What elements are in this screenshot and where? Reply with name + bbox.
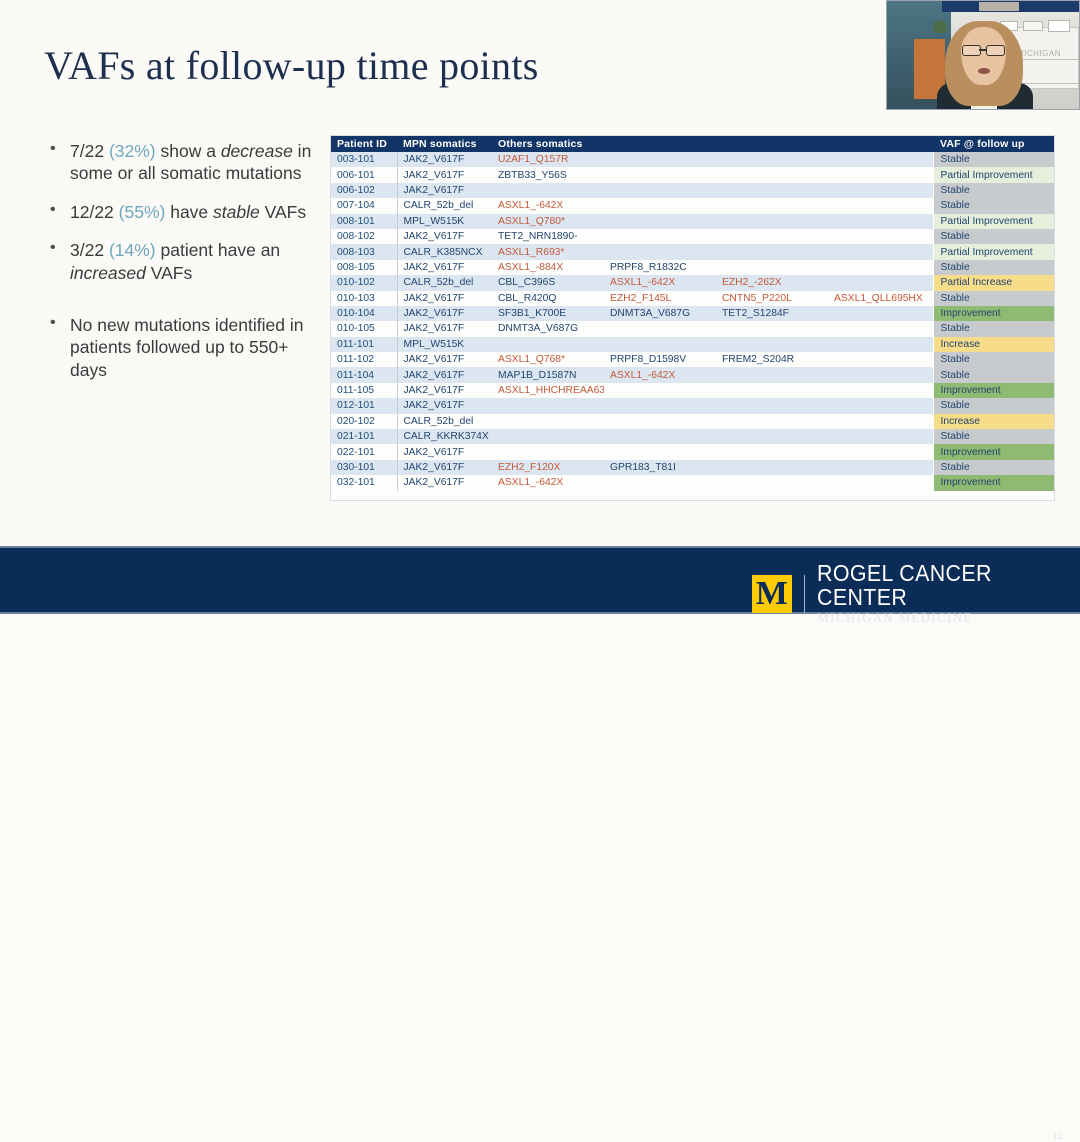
logo-secondary-text: MICHIGAN MEDICINE (817, 611, 1080, 626)
table-row: 008-101MPL_W515KASXL1_Q780*Partial Impro… (331, 214, 1054, 229)
cell-patient-id: 006-102 (331, 183, 397, 198)
table-row: 003-101JAK2_V617FU2AF1_Q157RStable (331, 152, 1054, 167)
webcam-glasses-bridge (979, 49, 986, 51)
table-filler-cell (331, 491, 397, 500)
table-row: 010-103JAK2_V617FCBL_R420QEZH2_F145LCNTN… (331, 291, 1054, 306)
cell-vaf-status: Partial Improvement (933, 167, 1054, 182)
cell-other-somatic (604, 183, 716, 198)
cell-mpn-somatic: JAK2_V617F (397, 183, 492, 198)
cell-other-somatic (716, 214, 828, 229)
cell-other-somatic: ASXL1_R693* (492, 244, 604, 259)
cell-other-somatic: CBL_R420Q (492, 291, 604, 306)
bullet-text-run: (32%) (109, 141, 156, 161)
rogel-cancer-center-logo: M ROGEL CANCER CENTER MICHIGAN MEDICINE (752, 561, 1080, 626)
cell-other-somatic (604, 214, 716, 229)
cell-vaf-status: Stable (933, 429, 1054, 444)
bullet-text-run: show a (156, 141, 221, 161)
cell-vaf-status: Improvement (933, 306, 1054, 321)
cell-other-somatic (492, 398, 604, 413)
cell-other-somatic (604, 229, 716, 244)
cell-mpn-somatic: JAK2_V617F (397, 367, 492, 382)
presentation-slide: VAFs at follow-up time points 7/22 (32%)… (0, 0, 1080, 610)
cell-mpn-somatic: JAK2_V617F (397, 152, 492, 167)
cell-other-somatic: FREM2_S204R (716, 352, 828, 367)
cell-other-somatic (828, 367, 933, 382)
table-row: 008-103CALR_K385NCXASXL1_R693*Partial Im… (331, 244, 1054, 259)
cell-other-somatic (828, 352, 933, 367)
bullet-item: 3/22 (14%) patient have an increased VAF… (44, 239, 324, 284)
cell-mpn-somatic: JAK2_V617F (397, 167, 492, 182)
cell-mpn-somatic: JAK2_V617F (397, 321, 492, 336)
cell-other-somatic: ASXL1_QLL695HX (828, 291, 933, 306)
cell-other-somatic (828, 275, 933, 290)
cell-other-somatic (604, 321, 716, 336)
cell-vaf-status: Increase (933, 337, 1054, 352)
cell-patient-id: 020-102 (331, 414, 397, 429)
cell-mpn-somatic: CALR_KKRK374X (397, 429, 492, 444)
cell-mpn-somatic: JAK2_V617F (397, 260, 492, 275)
cell-other-somatic (828, 260, 933, 275)
cell-other-somatic (828, 229, 933, 244)
cell-other-somatic (716, 229, 828, 244)
presenter-video-feed[interactable]: MICHIGAN (886, 0, 1080, 110)
cell-other-somatic: ASXL1_-642X (492, 475, 604, 490)
cell-vaf-status: Stable (933, 321, 1054, 336)
bullet-text-run: increased (70, 263, 146, 283)
table-row: 021-101CALR_KKRK374XStable (331, 429, 1054, 444)
cell-patient-id: 011-104 (331, 367, 397, 382)
cell-other-somatic (828, 198, 933, 213)
bullet-item: 12/22 (55%) have stable VAFs (44, 201, 324, 223)
cell-other-somatic (828, 152, 933, 167)
webcam-person-mouth (978, 68, 990, 74)
bullet-item: No new mutations identified in patients … (44, 314, 324, 381)
cell-patient-id: 006-101 (331, 167, 397, 182)
cell-vaf-status: Partial Increase (933, 275, 1054, 290)
cell-other-somatic: U2AF1_Q157R (492, 152, 604, 167)
webcam-person-face (961, 27, 1006, 85)
bullet-text-run: (14%) (109, 240, 156, 260)
cell-other-somatic: ASXL1_-642X (604, 275, 716, 290)
cell-other-somatic (604, 152, 716, 167)
cell-vaf-status: Stable (933, 229, 1054, 244)
cell-other-somatic (492, 414, 604, 429)
cell-other-somatic (828, 167, 933, 182)
cell-vaf-status: Stable (933, 291, 1054, 306)
cell-other-somatic (604, 444, 716, 459)
bullet-text-run: 3/22 (70, 240, 109, 260)
cell-other-somatic (716, 260, 828, 275)
cell-other-somatic (828, 414, 933, 429)
table-row: 011-105JAK2_V617FASXL1_HHCHREAA630XImpro… (331, 383, 1054, 398)
bullet-text-run: VAFs (146, 263, 192, 283)
cell-other-somatic: EZH2_F145L (604, 291, 716, 306)
col-header-others-somatics: Others somatics (492, 136, 604, 152)
col-header-vaf-follow-up: VAF @ follow up (933, 136, 1054, 152)
cell-other-somatic (828, 429, 933, 444)
vaf-results-table: Patient ID MPN somatics Others somatics … (331, 136, 1054, 500)
cell-other-somatic (716, 183, 828, 198)
cell-other-somatic (492, 337, 604, 352)
results-table: Patient ID MPN somatics Others somatics … (331, 136, 1054, 500)
webcam-top-box (979, 2, 1019, 11)
cell-other-somatic (716, 398, 828, 413)
cell-mpn-somatic: CALR_K385NCX (397, 244, 492, 259)
cell-other-somatic (716, 337, 828, 352)
bullet-text-run: (55%) (119, 202, 166, 222)
table-header-row: Patient ID MPN somatics Others somatics … (331, 136, 1054, 152)
cell-other-somatic (716, 475, 828, 490)
cell-other-somatic (716, 460, 828, 475)
cell-patient-id: 022-101 (331, 444, 397, 459)
cell-vaf-status: Improvement (933, 383, 1054, 398)
logo-text-block: ROGEL CANCER CENTER MICHIGAN MEDICINE (817, 561, 1080, 626)
table-row: 011-102JAK2_V617FASXL1_Q768*PRPF8_D1598V… (331, 352, 1054, 367)
col-header-patient-id: Patient ID (331, 136, 397, 152)
cell-other-somatic: ASXL1_-642X (604, 367, 716, 382)
webcam-glasses-right (986, 45, 1005, 56)
cell-other-somatic: ASXL1_Q768* (492, 352, 604, 367)
cell-patient-id: 008-101 (331, 214, 397, 229)
cell-other-somatic: MAP1B_D1587N (492, 367, 604, 382)
slide-number: 12 (1052, 1130, 1063, 1142)
cell-mpn-somatic: JAK2_V617F (397, 229, 492, 244)
cell-vaf-status: Stable (933, 198, 1054, 213)
cell-other-somatic: DNMT3A_V687G (604, 306, 716, 321)
table-row: 012-101JAK2_V617FStable (331, 398, 1054, 413)
table-row: 010-102CALR_52b_delCBL_C396SASXL1_-642XE… (331, 275, 1054, 290)
bullet-text-run: No new mutations identified in patients … (70, 315, 303, 380)
cell-other-somatic (828, 475, 933, 490)
cell-patient-id: 011-101 (331, 337, 397, 352)
table-filler-cell (604, 491, 716, 500)
cell-other-somatic (604, 414, 716, 429)
table-row: 020-102CALR_52b_delIncrease (331, 414, 1054, 429)
cell-mpn-somatic: CALR_52b_del (397, 198, 492, 213)
webcam-box-3 (1048, 20, 1070, 32)
table-row: 010-105JAK2_V617FDNMT3A_V687GStable (331, 321, 1054, 336)
cell-other-somatic (716, 198, 828, 213)
cell-other-somatic: CBL_C396S (492, 275, 604, 290)
table-row: 032-101JAK2_V617FASXL1_-642XImprovement (331, 475, 1054, 490)
cell-other-somatic (492, 444, 604, 459)
cell-other-somatic: ASXL1_-642X (492, 198, 604, 213)
cell-other-somatic (716, 429, 828, 444)
table-filler-cell (716, 491, 828, 500)
table-row: 022-101JAK2_V617FImprovement (331, 444, 1054, 459)
cell-mpn-somatic: JAK2_V617F (397, 383, 492, 398)
bullet-item: 7/22 (32%) show a decrease in some or al… (44, 140, 324, 185)
table-filler-row (331, 491, 1054, 500)
cell-other-somatic: ASXL1_Q780* (492, 214, 604, 229)
table-filler-cell (933, 491, 1054, 500)
cell-patient-id: 010-105 (331, 321, 397, 336)
cell-other-somatic (828, 337, 933, 352)
cell-other-somatic (716, 367, 828, 382)
bullet-text-run: patient have an (156, 240, 281, 260)
cell-other-somatic (828, 214, 933, 229)
cell-other-somatic: TET2_NRN1890- (492, 229, 604, 244)
cell-other-somatic: DNMT3A_V687G (492, 321, 604, 336)
table-row: 008-105JAK2_V617FASXL1_-884XPRPF8_R1832C… (331, 260, 1054, 275)
logo-divider (804, 575, 806, 613)
cell-vaf-status: Stable (933, 260, 1054, 275)
cell-other-somatic (828, 244, 933, 259)
cell-patient-id: 012-101 (331, 398, 397, 413)
cell-vaf-status: Stable (933, 398, 1054, 413)
table-filler-cell (397, 491, 492, 500)
cell-mpn-somatic: JAK2_V617F (397, 444, 492, 459)
bullet-text-run: 7/22 (70, 141, 109, 161)
cell-patient-id: 011-105 (331, 383, 397, 398)
cell-other-somatic (716, 383, 828, 398)
table-body: 003-101JAK2_V617FU2AF1_Q157RStable006-10… (331, 152, 1054, 500)
table-filler-cell (828, 491, 933, 500)
cell-mpn-somatic: JAK2_V617F (397, 460, 492, 475)
cell-mpn-somatic: CALR_52b_del (397, 414, 492, 429)
cell-other-somatic (716, 167, 828, 182)
cell-vaf-status: Stable (933, 183, 1054, 198)
cell-other-somatic (828, 398, 933, 413)
bullet-list: 7/22 (32%) show a decrease in some or al… (44, 140, 324, 397)
cell-vaf-status: Increase (933, 414, 1054, 429)
cell-other-somatic (716, 244, 828, 259)
cell-other-somatic (828, 444, 933, 459)
cell-other-somatic (604, 167, 716, 182)
cell-other-somatic (604, 198, 716, 213)
cell-other-somatic (604, 398, 716, 413)
cell-other-somatic: TET2_S1284F (716, 306, 828, 321)
cell-other-somatic (828, 321, 933, 336)
cell-other-somatic (828, 460, 933, 475)
cell-other-somatic: PRPF8_R1832C (604, 260, 716, 275)
table-row: 006-101JAK2_V617FZBTB33_Y56SPartial Impr… (331, 167, 1054, 182)
cell-patient-id: 021-101 (331, 429, 397, 444)
cell-other-somatic (492, 183, 604, 198)
cell-other-somatic: ZBTB33_Y56S (492, 167, 604, 182)
bullet-text-run: VAFs (260, 202, 306, 222)
cell-mpn-somatic: MPL_W515K (397, 337, 492, 352)
cell-patient-id: 008-103 (331, 244, 397, 259)
cell-mpn-somatic: JAK2_V617F (397, 306, 492, 321)
col-header-blank-2 (716, 136, 828, 152)
cell-vaf-status: Partial Improvement (933, 244, 1054, 259)
webcam-plant (931, 19, 949, 33)
bullet-text-run: decrease (221, 141, 293, 161)
cell-patient-id: 010-102 (331, 275, 397, 290)
cell-other-somatic (492, 429, 604, 444)
col-header-blank-3 (828, 136, 933, 152)
cell-other-somatic (828, 183, 933, 198)
cell-other-somatic (716, 321, 828, 336)
webcam-glasses-left (962, 45, 981, 56)
table-filler-cell (492, 491, 604, 500)
cell-other-somatic (604, 244, 716, 259)
cell-patient-id: 011-102 (331, 352, 397, 367)
cell-vaf-status: Improvement (933, 444, 1054, 459)
cell-other-somatic: ASXL1_HHCHREAA630X (492, 383, 604, 398)
cell-other-somatic: EZH2_-262X (716, 275, 828, 290)
cell-patient-id: 003-101 (331, 152, 397, 167)
cell-mpn-somatic: MPL_W515K (397, 214, 492, 229)
cell-other-somatic (828, 306, 933, 321)
slide-footer: M ROGEL CANCER CENTER MICHIGAN MEDICINE … (0, 546, 1080, 614)
cell-other-somatic (604, 383, 716, 398)
cell-vaf-status: Stable (933, 352, 1054, 367)
cell-patient-id: 007-104 (331, 198, 397, 213)
cell-other-somatic: PRPF8_D1598V (604, 352, 716, 367)
cell-patient-id: 010-104 (331, 306, 397, 321)
col-header-blank-1 (604, 136, 716, 152)
cell-patient-id: 008-102 (331, 229, 397, 244)
cell-other-somatic (604, 337, 716, 352)
table-row: 008-102JAK2_V617FTET2_NRN1890-Stable (331, 229, 1054, 244)
webcam-box-2 (1023, 21, 1043, 31)
cell-other-somatic (716, 414, 828, 429)
cell-other-somatic: GPR183_T81I (604, 460, 716, 475)
cell-other-somatic (716, 444, 828, 459)
cell-mpn-somatic: JAK2_V617F (397, 475, 492, 490)
table-row: 011-104JAK2_V617FMAP1B_D1587NASXL1_-642X… (331, 367, 1054, 382)
cell-vaf-status: Improvement (933, 475, 1054, 490)
cell-vaf-status: Partial Improvement (933, 214, 1054, 229)
table-row: 030-101JAK2_V617FEZH2_F120XGPR183_T81ISt… (331, 460, 1054, 475)
michigan-m-icon: M (752, 575, 792, 613)
table-row: 006-102JAK2_V617FStable (331, 183, 1054, 198)
cell-patient-id: 010-103 (331, 291, 397, 306)
table-row: 007-104CALR_52b_delASXL1_-642XStable (331, 198, 1054, 213)
cell-mpn-somatic: JAK2_V617F (397, 352, 492, 367)
cell-other-somatic: CNTN5_P220L (716, 291, 828, 306)
cell-vaf-status: Stable (933, 460, 1054, 475)
bullet-text-run: 12/22 (70, 202, 119, 222)
cell-mpn-somatic: JAK2_V617F (397, 398, 492, 413)
cell-vaf-status: Stable (933, 367, 1054, 382)
cell-other-somatic (716, 152, 828, 167)
cell-patient-id: 032-101 (331, 475, 397, 490)
cell-other-somatic: EZH2_F120X (492, 460, 604, 475)
cell-other-somatic (604, 475, 716, 490)
cell-other-somatic: ASXL1_-884X (492, 260, 604, 275)
cell-other-somatic (828, 383, 933, 398)
table-head: Patient ID MPN somatics Others somatics … (331, 136, 1054, 152)
cell-other-somatic: SF3B1_K700E (492, 306, 604, 321)
cell-mpn-somatic: JAK2_V617F (397, 291, 492, 306)
cell-patient-id: 008-105 (331, 260, 397, 275)
cell-mpn-somatic: CALR_52b_del (397, 275, 492, 290)
bullet-text-run: stable (213, 202, 260, 222)
bullet-text-run: have (165, 202, 213, 222)
col-header-mpn-somatics: MPN somatics (397, 136, 492, 152)
cell-vaf-status: Stable (933, 152, 1054, 167)
table-row: 011-101MPL_W515KIncrease (331, 337, 1054, 352)
logo-primary-text: ROGEL CANCER CENTER (817, 561, 1061, 609)
webcam-background-text: MICHIGAN (1017, 49, 1061, 58)
cell-patient-id: 030-101 (331, 460, 397, 475)
slide-title: VAFs at follow-up time points (44, 44, 539, 88)
cell-other-somatic (604, 429, 716, 444)
table-row: 010-104JAK2_V617FSF3B1_K700EDNMT3A_V687G… (331, 306, 1054, 321)
